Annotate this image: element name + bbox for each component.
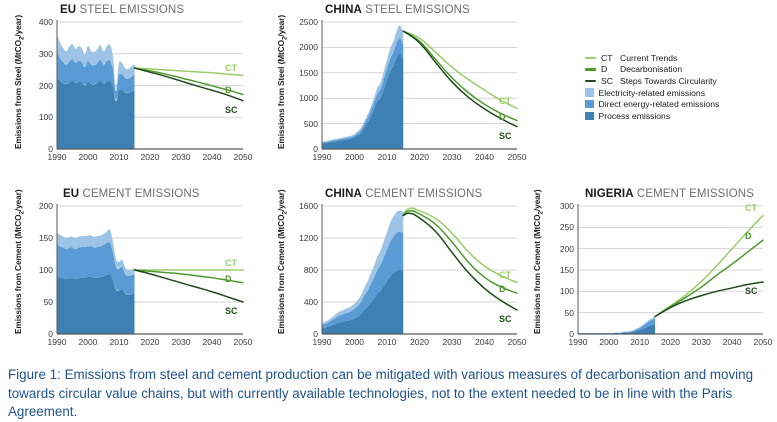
- legend: CTCurrent TrendsDDecarbonisationSCSteps …: [585, 52, 775, 122]
- y-tick-label: 200: [542, 244, 574, 254]
- x-tick-label: 2040: [475, 152, 494, 162]
- x-tick-label: 2050: [754, 337, 773, 347]
- title-subject: CEMENT EMISSIONS: [362, 188, 482, 200]
- figure-container: EU STEEL EMISSIONSEmissions from Steel (…: [0, 0, 777, 422]
- scenario-line-d: [403, 31, 517, 120]
- title-region: CHINA: [325, 188, 362, 200]
- scenario-line-d: [655, 240, 763, 316]
- x-tick-label: 2020: [410, 337, 429, 347]
- title-region: NIGERIA: [585, 188, 634, 200]
- x-tick-label: 2040: [203, 152, 222, 162]
- legend-line-swatch: [585, 68, 596, 70]
- area-electricity-related-emissions: [322, 210, 403, 324]
- x-tick-label: 2020: [661, 337, 680, 347]
- title-region: EU: [60, 4, 76, 16]
- legend-label: Direct energy-related emissions: [599, 99, 720, 109]
- legend-item-process-emissions: Process emissions: [585, 110, 775, 122]
- y-tick-label: 50: [21, 297, 53, 307]
- area-direct-energy-related-emissions: [57, 52, 135, 101]
- area-electricity-related-emissions: [322, 25, 403, 142]
- scenario-label-sc: SC: [499, 314, 512, 324]
- scenario-label-ct: CT: [499, 96, 511, 106]
- y-tick-label: 50: [542, 308, 574, 318]
- legend-line-swatch: [585, 80, 596, 82]
- x-tick-label: 2010: [110, 337, 129, 347]
- y-tick-label: 800: [286, 265, 318, 275]
- y-axis-label-eu-steel: Emissions from Steel (MtCO2/year): [13, 15, 26, 149]
- scenario-label-ct: CT: [225, 63, 237, 73]
- legend-line-swatch: [585, 57, 596, 59]
- area-process-emissions: [57, 78, 135, 149]
- y-tick-label: 1000: [286, 93, 318, 103]
- y-tick-label: 1200: [286, 233, 318, 243]
- scenario-line-sc: [403, 213, 517, 310]
- scenario-label-sc: SC: [499, 131, 512, 141]
- chart-title-eu-cement: EU CEMENT EMISSIONS: [63, 188, 200, 200]
- scenario-label-ct: CT: [499, 270, 511, 280]
- scenario-label-d: D: [225, 85, 232, 95]
- chart-title-nigeria-cement: NIGERIA CEMENT EMISSIONS: [585, 188, 754, 200]
- area-process-emissions: [322, 270, 403, 334]
- area-electricity-related-emissions: [578, 317, 655, 334]
- x-tick-label: 2030: [692, 337, 711, 347]
- area-electricity-related-emissions: [57, 229, 135, 276]
- x-tick-label: 1990: [48, 152, 67, 162]
- area-electricity-related-emissions: [57, 35, 135, 92]
- scenario-line-ct: [403, 208, 517, 282]
- y-tick-label: 2000: [286, 42, 318, 52]
- legend-abbreviation: D: [601, 64, 620, 74]
- scenario-line-ct: [403, 31, 517, 108]
- legend-area-swatch: [585, 88, 594, 97]
- x-tick-label: 2030: [172, 152, 191, 162]
- x-tick-label: 2000: [79, 337, 98, 347]
- y-tick-label: 0: [286, 329, 318, 339]
- y-tick-label: 0: [21, 144, 53, 154]
- chart-title-eu-steel: EU STEEL EMISSIONS: [60, 4, 184, 16]
- y-tick-label: 500: [286, 119, 318, 129]
- y-tick-label: 0: [21, 329, 53, 339]
- y-axis-label-china-steel: Emissions from Steel (MtCO2/year): [276, 15, 289, 149]
- x-tick-label: 2000: [345, 152, 364, 162]
- x-tick-label: 2020: [141, 152, 160, 162]
- x-tick-label: 2020: [410, 152, 429, 162]
- scenario-label-sc: SC: [225, 105, 238, 115]
- scenario-line-ct: [655, 215, 763, 316]
- scenario-label-sc: SC: [745, 286, 758, 296]
- legend-label: Current Trends: [620, 53, 677, 63]
- x-tick-label: 2030: [172, 337, 191, 347]
- y-tick-label: 1500: [286, 68, 318, 78]
- y-tick-label: 200: [21, 81, 53, 91]
- area-process-emissions: [578, 324, 655, 334]
- scenario-label-d: D: [499, 112, 506, 122]
- legend-label: Decarbonisation: [620, 64, 682, 74]
- legend-item-current-trends: CTCurrent Trends: [585, 52, 775, 64]
- legend-area-swatch: [585, 112, 594, 121]
- scenario-label-sc: SC: [225, 306, 238, 316]
- area-direct-energy-related-emissions: [57, 241, 135, 295]
- x-tick-label: 2030: [443, 152, 462, 162]
- y-tick-label: 300: [542, 201, 574, 211]
- title-region: CHINA: [325, 4, 362, 16]
- y-tick-label: 100: [21, 265, 53, 275]
- legend-item-direct-energy-related-emissions: Direct energy-related emissions: [585, 98, 775, 110]
- x-tick-label: 2040: [475, 337, 494, 347]
- scenario-label-d: D: [225, 274, 232, 284]
- x-tick-label: 2040: [723, 337, 742, 347]
- legend-abbreviation: SC: [601, 76, 620, 86]
- y-tick-label: 100: [21, 112, 53, 122]
- x-tick-label: 2000: [599, 337, 618, 347]
- x-tick-label: 2050: [508, 337, 527, 347]
- legend-item-electricity-related-emissions: Electricity-related emissions: [585, 87, 775, 99]
- legend-label: Electricity-related emissions: [599, 88, 706, 98]
- y-tick-label: 2500: [286, 17, 318, 27]
- x-tick-label: 2020: [141, 337, 160, 347]
- y-axis-label-nigeria-cement: Emissions from Cement (MtCO2/year): [532, 190, 545, 334]
- y-tick-label: 150: [21, 233, 53, 243]
- legend-label: Process emissions: [599, 111, 671, 121]
- x-tick-label: 2010: [378, 152, 397, 162]
- area-direct-energy-related-emissions: [578, 319, 655, 334]
- title-subject: STEEL EMISSIONS: [362, 4, 470, 16]
- scenario-line-d: [135, 270, 244, 283]
- title-subject: CEMENT EMISSIONS: [634, 188, 754, 200]
- x-tick-label: 2010: [630, 337, 649, 347]
- y-axis-label-china-cement: Emissions from Cement (MtCO2/year): [276, 190, 289, 334]
- legend-label: Steps Towards Circularity: [620, 76, 717, 86]
- x-tick-label: 2050: [508, 152, 527, 162]
- y-tick-label: 0: [542, 329, 574, 339]
- y-tick-label: 200: [21, 201, 53, 211]
- scenario-line-ct: [135, 68, 244, 75]
- x-tick-label: 1990: [313, 337, 332, 347]
- legend-abbreviation: CT: [601, 53, 620, 63]
- x-tick-label: 2010: [110, 152, 129, 162]
- scenario-label-ct: CT: [745, 203, 757, 213]
- scenario-line-sc: [135, 270, 244, 302]
- y-tick-label: 100: [542, 286, 574, 296]
- area-process-emissions: [57, 274, 135, 334]
- y-tick-label: 250: [542, 222, 574, 232]
- scenario-label-d: D: [499, 284, 506, 294]
- title-subject: CEMENT EMISSIONS: [79, 188, 199, 200]
- x-tick-label: 2010: [378, 337, 397, 347]
- chart-title-china-steel: CHINA STEEL EMISSIONS: [325, 4, 470, 16]
- title-region: EU: [63, 188, 79, 200]
- x-tick-label: 2050: [234, 152, 253, 162]
- legend-item-steps-towards-circularity: SCSteps Towards Circularity: [585, 75, 775, 87]
- y-tick-label: 400: [286, 297, 318, 307]
- legend-item-decarbonisation: DDecarbonisation: [585, 64, 775, 76]
- scenario-line-sc: [135, 68, 244, 101]
- x-tick-label: 1990: [313, 152, 332, 162]
- y-axis-label-eu-cement: Emissions from Cement (MtCO2/year): [13, 190, 26, 334]
- y-tick-label: 0: [286, 144, 318, 154]
- scenario-label-ct: CT: [225, 258, 237, 268]
- x-tick-label: 1990: [48, 337, 67, 347]
- title-subject: STEEL EMISSIONS: [76, 4, 184, 16]
- scenario-line-d: [135, 68, 244, 94]
- legend-area-swatch: [585, 100, 594, 109]
- area-process-emissions: [322, 53, 403, 149]
- y-tick-label: 1600: [286, 201, 318, 211]
- scenario-label-d: D: [745, 231, 752, 241]
- y-tick-label: 150: [542, 265, 574, 275]
- x-tick-label: 2050: [234, 337, 253, 347]
- scenario-line-d: [403, 211, 517, 293]
- x-tick-label: 2000: [345, 337, 364, 347]
- scenario-line-sc: [655, 282, 763, 317]
- y-tick-label: 400: [21, 17, 53, 27]
- x-tick-label: 2030: [443, 337, 462, 347]
- x-tick-label: 1990: [569, 337, 588, 347]
- figure-caption: Figure 1: Emissions from steel and cemen…: [8, 366, 770, 422]
- scenario-line-sc: [403, 31, 517, 127]
- y-tick-label: 300: [21, 49, 53, 59]
- area-direct-energy-related-emissions: [322, 232, 403, 329]
- x-tick-label: 2000: [79, 152, 98, 162]
- area-direct-energy-related-emissions: [322, 38, 403, 144]
- chart-title-china-cement: CHINA CEMENT EMISSIONS: [325, 188, 482, 200]
- x-tick-label: 2040: [203, 337, 222, 347]
